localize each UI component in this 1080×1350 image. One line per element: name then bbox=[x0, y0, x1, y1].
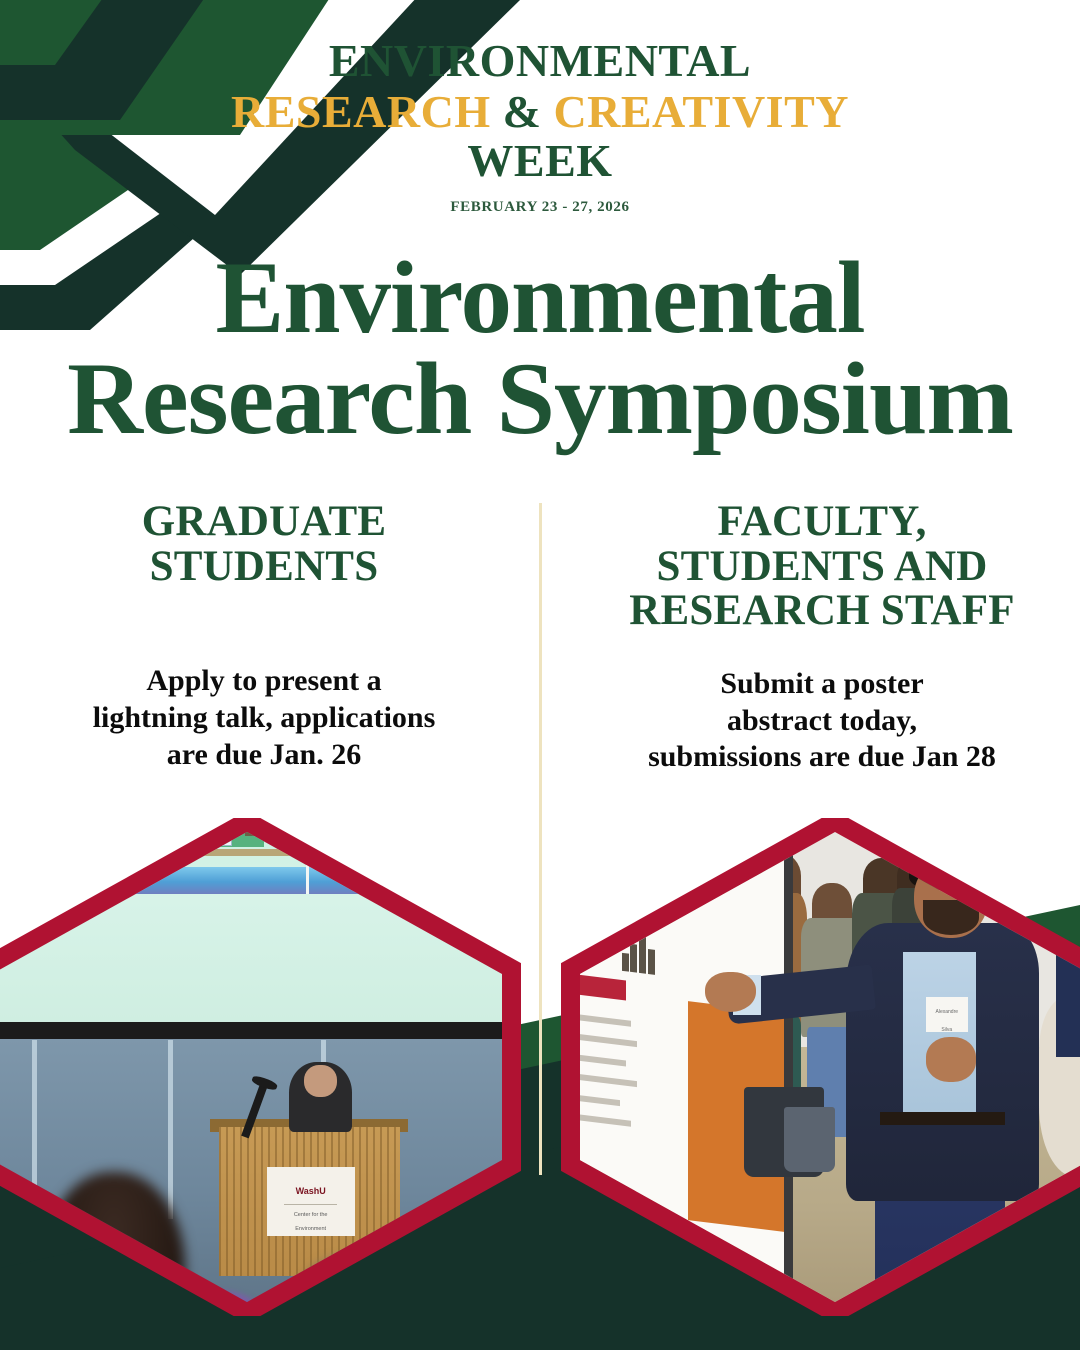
column-graduate-students: GRADUATE STUDENTS Apply to present a lig… bbox=[0, 500, 540, 776]
photo-lecture-scene: WashU Center for the Environment bbox=[0, 818, 530, 1316]
page-title-line2: Research Symposium bbox=[0, 349, 1080, 450]
slide-page-number: 40 bbox=[469, 893, 479, 903]
column-faculty-staff: FACULTY, STUDENTS AND RESEARCH STAFF Sub… bbox=[540, 500, 1080, 776]
poster-canvas: ENVIRONMENTAL RESEARCH & CREATIVITY WEEK… bbox=[0, 0, 1080, 1350]
column-heading-graduate-line2: STUDENTS bbox=[150, 543, 379, 590]
column-heading-faculty-line3: RESEARCH STAFF bbox=[629, 587, 1014, 634]
column-body-faculty-line1: Submit a poster bbox=[720, 667, 923, 700]
event-series-title: ENVIRONMENTAL RESEARCH & CREATIVITY WEEK bbox=[0, 38, 1080, 185]
microphone-icon bbox=[242, 1084, 268, 1138]
column-body-faculty-line2: abstract today, bbox=[727, 704, 917, 737]
page-title-line1: Environmental bbox=[0, 248, 1080, 349]
name-badge-line1: Alexandre bbox=[926, 1009, 968, 1015]
photo-poster-session: Alexandre Silva bbox=[552, 818, 1080, 1316]
event-series-line1: ENVIRONMENTAL bbox=[329, 35, 751, 86]
photo-hexagon-graduate: WashU Center for the Environment bbox=[0, 818, 530, 1316]
column-heading-faculty-line1: FACULTY, bbox=[717, 498, 926, 545]
podium-plaque-brand: WashU bbox=[267, 1186, 355, 1196]
name-badge-line2: Silva bbox=[926, 1027, 968, 1033]
column-body-graduate-line3: are due Jan. 26 bbox=[167, 738, 361, 771]
name-badge: Alexandre Silva bbox=[926, 997, 968, 1032]
column-body-faculty: Submit a poster abstract today, submissi… bbox=[592, 666, 1052, 776]
photo-hexagon-faculty: Alexandre Silva bbox=[552, 818, 1080, 1316]
event-series-line3: WEEK bbox=[0, 138, 1080, 185]
page-title: Environmental Research Symposium bbox=[0, 248, 1080, 450]
podium-plaque-line1: Center for the bbox=[267, 1212, 355, 1219]
column-heading-faculty-line2: STUDENTS AND bbox=[657, 543, 988, 590]
audience-columns: GRADUATE STUDENTS Apply to present a lig… bbox=[0, 500, 1080, 776]
event-series-creativity: CREATIVITY bbox=[553, 86, 849, 137]
event-series-research: RESEARCH bbox=[231, 86, 491, 137]
projection-slide: groundwater 40 bbox=[0, 818, 530, 1022]
column-heading-graduate: GRADUATE STUDENTS bbox=[40, 500, 488, 589]
header-block: ENVIRONMENTAL RESEARCH & CREATIVITY WEEK… bbox=[0, 38, 1080, 216]
speaker-figure bbox=[289, 1062, 351, 1132]
hexagon-frame-icon-right: Alexandre Silva bbox=[552, 818, 1080, 1316]
column-body-graduate-line1: Apply to present a bbox=[146, 664, 381, 697]
column-heading-graduate-line1: GRADUATE bbox=[142, 498, 386, 545]
event-series-ampersand: & bbox=[503, 86, 542, 137]
column-body-graduate: Apply to present a lightning talk, appli… bbox=[40, 663, 488, 773]
podium-plaque-line2: Environment bbox=[267, 1226, 355, 1233]
slide-label-groundwater: groundwater bbox=[60, 874, 132, 889]
hexagon-frame-icon: WashU Center for the Environment bbox=[0, 818, 530, 1316]
event-dateline: FEBRUARY 23 - 27, 2026 bbox=[0, 199, 1080, 216]
column-body-graduate-line2: lightning talk, applications bbox=[93, 701, 436, 734]
podium-plaque: WashU Center for the Environment bbox=[267, 1167, 355, 1237]
column-body-faculty-line3: submissions are due Jan 28 bbox=[648, 740, 996, 773]
column-heading-faculty: FACULTY, STUDENTS AND RESEARCH STAFF bbox=[592, 500, 1052, 634]
